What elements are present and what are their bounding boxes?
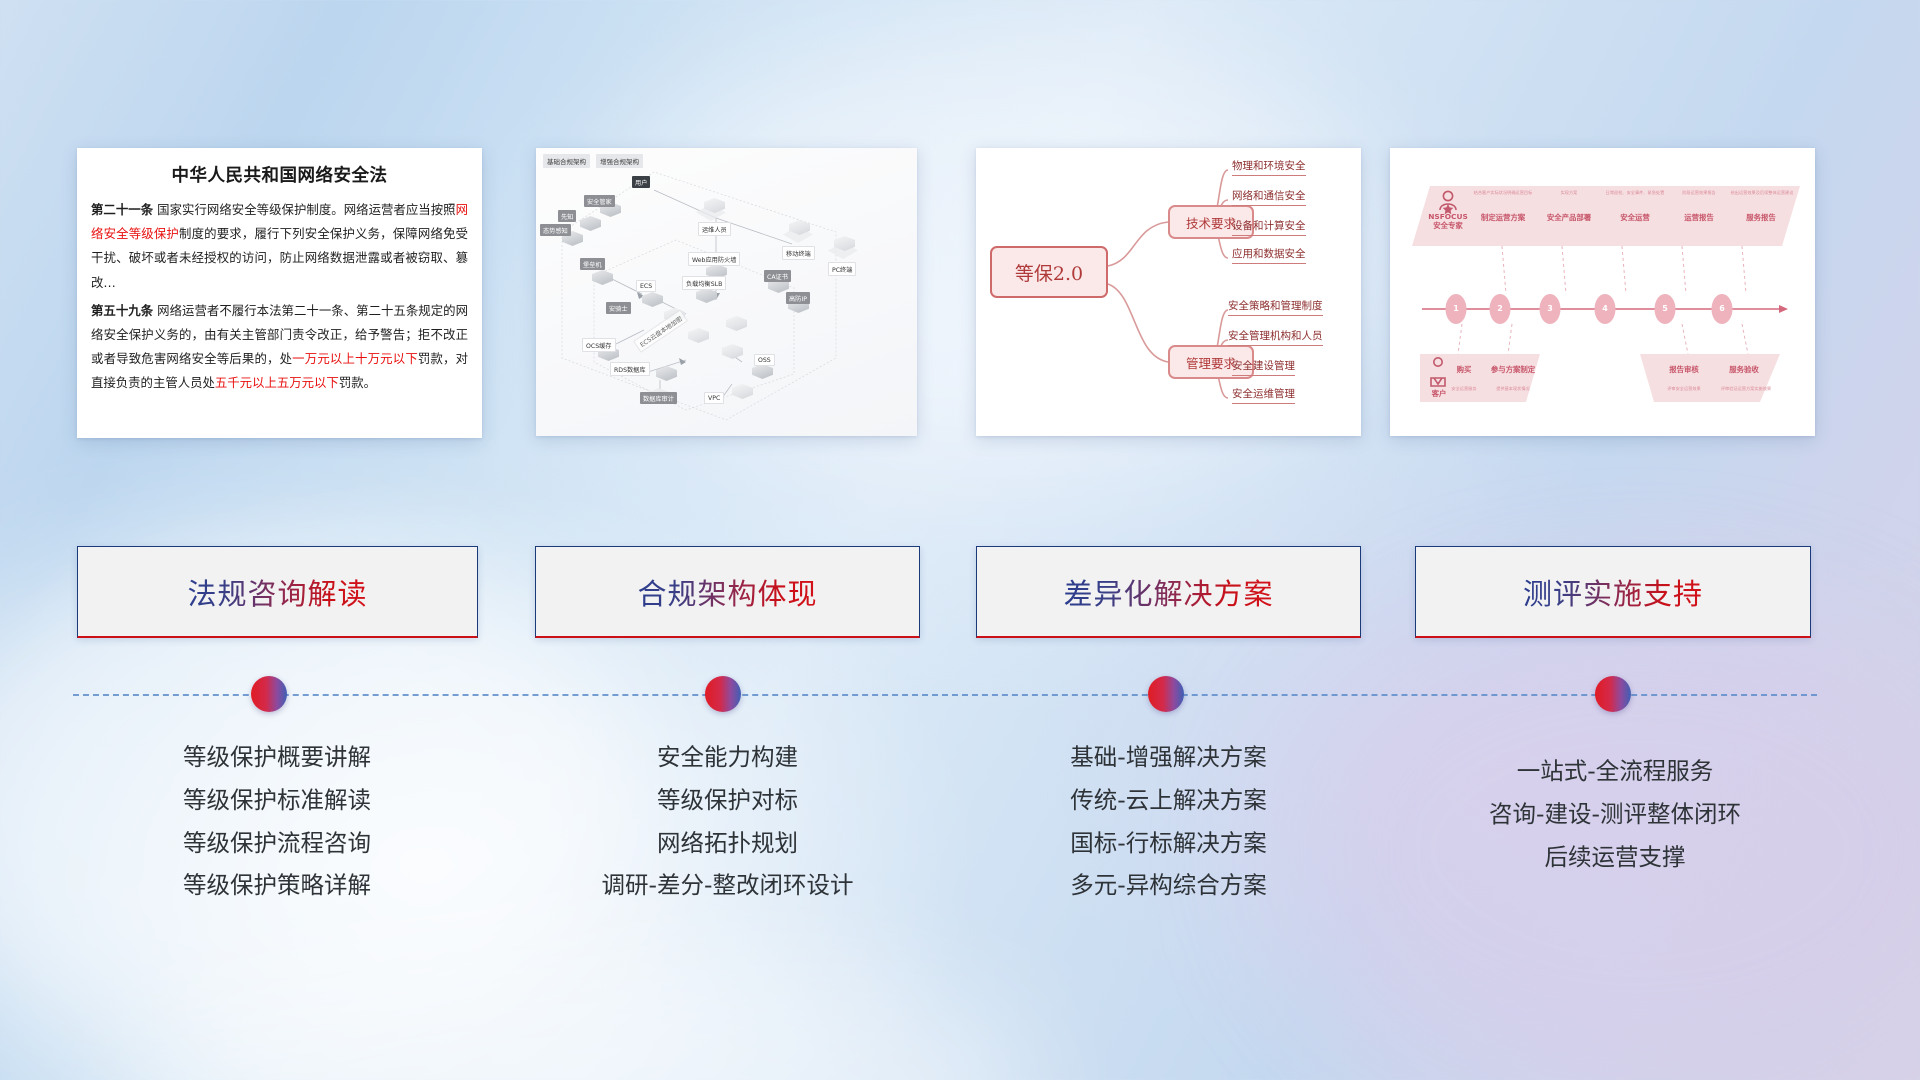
arch-node-oss: OSS <box>754 354 775 366</box>
nsfocus-top-sub-2: 实现方案 <box>1532 190 1606 196</box>
nsfocus-bottom-sub-2: 提供基本现状情况 <box>1482 386 1544 392</box>
arch-node-ca-cert: CA证书 <box>764 270 791 282</box>
law-run-highlight: 五千元以上五万元以下 <box>215 375 339 390</box>
list-item: 后续运营支撑 <box>1415 836 1815 879</box>
law-run-highlight: 一万元以上十万元以下 <box>292 351 418 366</box>
timeline-dot-3[interactable] <box>1148 676 1184 712</box>
title-label: 差异化解决方案 <box>1063 571 1273 613</box>
title-box-assessment-support[interactable]: 测评实施支持 <box>1415 546 1811 638</box>
arch-node-ecs: ECS <box>636 280 656 292</box>
list-item: 多元-异构综合方案 <box>976 864 1361 907</box>
nsfocus-top-main-1: 制定运营方案 <box>1466 212 1540 223</box>
mindmap-leaf: 安全策略和管理制度 <box>1228 298 1323 316</box>
nsfocus-bottom-main-3: 报告审核 <box>1656 364 1712 375</box>
detail-list-assessment-support: 一站式-全流程服务 咨询-建设-测评整体闭环 后续运营支撑 <box>1415 750 1815 878</box>
law-article-label-21: 第二十一条 <box>91 202 153 217</box>
detail-lists-row: 等级保护概要讲解 等级保护标准解读 等级保护流程咨询 等级保护策略详解 安全能力… <box>0 736 1920 956</box>
list-item: 等级保护策略详解 <box>77 864 477 907</box>
arch-node-user: 用户 <box>632 176 650 188</box>
law-paragraph-21: 第二十一条 国家实行网络安全等级保护制度。网络运营者应当按照网络安全等级保护制度… <box>91 198 468 295</box>
background-glow-bottom <box>140 940 1040 1080</box>
timeline <box>0 660 1920 740</box>
arch-node-security-butler: 安全管家 <box>584 195 615 207</box>
law-article-label-59: 第五十九条 <box>91 303 153 318</box>
list-item: 一站式-全流程服务 <box>1415 750 1815 793</box>
list-item: 等级保护对标 <box>535 779 920 822</box>
arch-node-ocs-cache: OCS缓存 <box>582 338 616 352</box>
nsfocus-step-number-2: 2 <box>1490 304 1510 313</box>
timeline-dot-2[interactable] <box>705 676 741 712</box>
law-paragraph-59: 第五十九条 网络运营者不履行本法第二十一条、第二十五条规定的网络安全保护义务的，… <box>91 299 468 396</box>
nsfocus-step-number-3: 3 <box>1540 304 1560 313</box>
mindmap-leaf: 应用和数据安全 <box>1232 246 1306 264</box>
title-box-differentiated-solution[interactable]: 差异化解决方案 <box>976 546 1361 638</box>
nsfocus-step-number-1: 1 <box>1446 304 1466 313</box>
card-cybersecurity-law[interactable]: 中华人民共和国网络安全法 第二十一条 国家实行网络安全等级保护制度。网络运营者应… <box>77 148 482 438</box>
preview-cards-row: 中华人民共和国网络安全法 第二十一条 国家实行网络安全等级保护制度。网络运营者应… <box>0 148 1920 448</box>
mindmap-leaf: 设备和计算安全 <box>1232 218 1306 236</box>
arch-node-situational-awareness: 态势感知 <box>540 224 571 236</box>
title-label: 测评实施支持 <box>1523 571 1703 613</box>
nsfocus-step-number-6: 6 <box>1712 304 1732 313</box>
mindmap-leaf: 安全管理机构和人员 <box>1228 328 1323 346</box>
nsfocus-top-main-5: 服务报告 <box>1724 212 1798 223</box>
arch-node-mobile-terminal: 移动终端 <box>782 246 815 260</box>
arch-node-anti-ddos-ip: 高防IP <box>786 292 810 304</box>
nsfocus-top-main-2: 安全产品部署 <box>1532 212 1606 223</box>
list-item: 等级保护概要讲解 <box>77 736 477 779</box>
nsfocus-bottom-main-4: 服务验收 <box>1716 364 1772 375</box>
nsfocus-timeline: NSFOCUS安全专家 结合客户实际状况明确运营目标 制定运营方案 实现方案 安… <box>1390 148 1815 436</box>
arch-node-xianzhi: 先知 <box>558 210 576 222</box>
architecture-connectors <box>536 148 917 436</box>
detail-list-regulation-consulting: 等级保护概要讲解 等级保护标准解读 等级保护流程咨询 等级保护策略详解 <box>77 736 477 907</box>
list-item: 国标-行标解决方案 <box>976 822 1361 865</box>
law-run: 国家实行网络安全等级保护制度。网络运营者应当按照 <box>153 202 455 217</box>
mindmap-leaf: 物理和环境安全 <box>1232 158 1306 176</box>
law-run: 罚款。 <box>339 375 376 390</box>
arch-node-anqishi: 安骑士 <box>606 302 631 314</box>
nsfocus-step-number-5: 5 <box>1655 304 1675 313</box>
mindmap-root: 等保2.0 <box>990 246 1108 298</box>
architecture-diagram: 基础合规架构 增强合规架构 <box>536 148 917 436</box>
list-item: 咨询-建设-测评整体闭环 <box>1415 793 1815 836</box>
title-boxes-row: 法规咨询解读 合规架构体现 差异化解决方案 测评实施支持 <box>0 546 1920 638</box>
title-box-compliance-architecture[interactable]: 合规架构体现 <box>535 546 920 638</box>
arch-node-slb: 负载均衡SLB <box>682 276 726 290</box>
nsfocus-top-sub-5: 给出运营效果及后续整体运营建议 <box>1720 190 1804 196</box>
arch-node-pc-terminal: PC终端 <box>828 262 856 276</box>
card-mindmap-dengbao[interactable]: 等保2.0 技术要求 管理要求 物理和环境安全 网络和通信安全 设备和计算安全 … <box>976 148 1361 436</box>
list-item: 安全能力构建 <box>535 736 920 779</box>
arch-node-db-audit: 数据库审计 <box>640 392 677 404</box>
arch-node-ops-staff: 运维人员 <box>698 222 731 236</box>
arch-node-waf: Web应用防火墙 <box>688 252 740 266</box>
list-item: 传统-云上解决方案 <box>976 779 1361 822</box>
nsfocus-top-sub-1: 结合客户实际状况明确运营目标 <box>1466 190 1540 196</box>
list-item: 等级保护流程咨询 <box>77 822 477 865</box>
list-item: 等级保护标准解读 <box>77 779 477 822</box>
mindmap-leaf: 安全建设管理 <box>1232 358 1295 376</box>
mindmap-leaf: 安全运维管理 <box>1232 386 1295 404</box>
arch-node-bastion-host: 堡垒机 <box>580 258 605 270</box>
nsfocus-bottom-main-2: 参与方案制定 <box>1482 364 1544 375</box>
nsfocus-step-number-4: 4 <box>1595 304 1615 313</box>
title-label: 法规咨询解读 <box>187 571 367 613</box>
card-compliance-architecture[interactable]: 基础合规架构 增强合规架构 <box>536 148 917 436</box>
list-item: 基础-增强解决方案 <box>976 736 1361 779</box>
title-label: 合规架构体现 <box>637 571 817 613</box>
nsfocus-bottom-main-1: 购买 <box>1442 364 1486 375</box>
mindmap: 等保2.0 技术要求 管理要求 物理和环境安全 网络和通信安全 设备和计算安全 … <box>976 148 1361 436</box>
card-nsfocus-timeline[interactable]: NSFOCUS安全专家 结合客户实际状况明确运营目标 制定运营方案 实现方案 安… <box>1390 148 1815 436</box>
list-item: 网络拓扑规划 <box>535 822 920 865</box>
title-box-regulation-consulting[interactable]: 法规咨询解读 <box>77 546 478 638</box>
detail-list-differentiated-solution: 基础-增强解决方案 传统-云上解决方案 国标-行标解决方案 多元-异构综合方案 <box>976 736 1361 907</box>
timeline-dashed-line <box>73 694 1817 696</box>
timeline-dot-1[interactable] <box>251 676 287 712</box>
nsfocus-bottom-sub-4: 评审验证运营方案实施效果 <box>1708 386 1784 392</box>
law-card-title: 中华人民共和国网络安全法 <box>91 162 468 187</box>
detail-list-compliance-architecture: 安全能力构建 等级保护对标 网络拓扑规划 调研-差分-整改闭环设计 <box>535 736 920 907</box>
arch-node-vpc: VPC <box>704 392 724 404</box>
mindmap-leaf: 网络和通信安全 <box>1232 188 1306 206</box>
arch-node-rds: RDS数据库 <box>610 362 650 376</box>
list-item: 调研-差分-整改闭环设计 <box>535 864 920 907</box>
timeline-dot-4[interactable] <box>1595 676 1631 712</box>
